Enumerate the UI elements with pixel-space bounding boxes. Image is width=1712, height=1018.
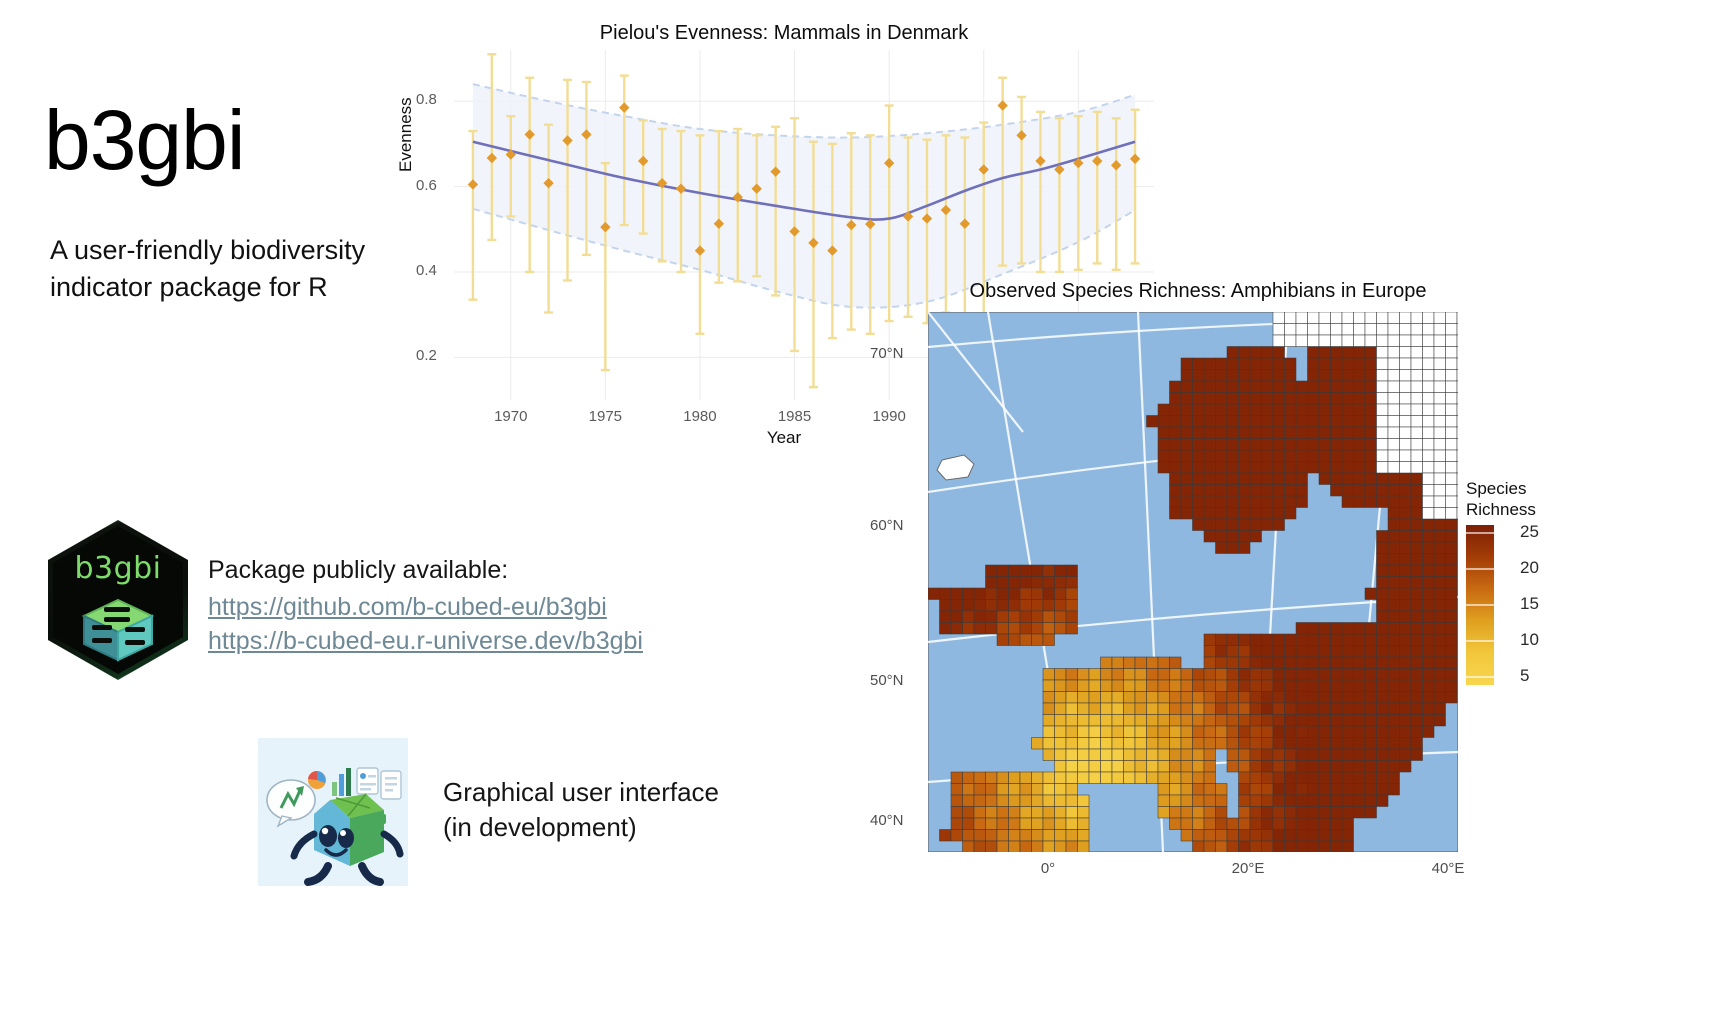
chart-x-tick: 1975: [585, 408, 625, 425]
chart-x-tick: 1990: [869, 408, 909, 425]
gui-caption-line1: Graphical user interface: [443, 775, 719, 810]
chart-x-tick: 1980: [680, 408, 720, 425]
legend-tick: 5: [1520, 666, 1529, 686]
richness-map: Observed Species Richness: Amphibians in…: [918, 280, 1658, 880]
gui-caption-line2: (in development): [443, 810, 719, 845]
legend-title: Species Richness: [1466, 478, 1536, 521]
chart-y-tick: 0.6: [416, 177, 437, 194]
gui-preview-image: [258, 738, 408, 886]
package-heading: Package publicly available:: [208, 556, 643, 585]
legend-tick: 10: [1520, 630, 1539, 650]
map-lat-tick: 70°N: [870, 345, 904, 362]
legend-colorbar: [1466, 525, 1506, 685]
gui-caption: Graphical user interface (in development…: [443, 775, 719, 844]
map-title: Observed Species Richness: Amphibians in…: [918, 280, 1478, 303]
github-link[interactable]: https://github.com/b-cubed-eu/b3gbi: [208, 590, 643, 624]
logo-text: b3gbi: [48, 551, 188, 586]
r-universe-link[interactable]: https://b-cubed-eu.r-universe.dev/b3gbi: [208, 624, 643, 658]
map-plot-area: [928, 312, 1458, 852]
legend-title-line2: Richness: [1466, 499, 1536, 520]
chart-x-tick: 1985: [775, 408, 815, 425]
legend-tick: 15: [1520, 594, 1539, 614]
chart-title: Pielou's Evenness: Mammals in Denmark: [404, 22, 1164, 45]
legend-tick: 25: [1520, 522, 1539, 542]
chart-y-axis-label: Evenness: [396, 97, 416, 172]
chart-x-tick: 1970: [491, 408, 531, 425]
chart-y-tick: 0.8: [416, 91, 437, 108]
map-lon-tick: 0°: [1026, 860, 1070, 877]
map-lat-tick: 50°N: [870, 672, 904, 689]
page-title: b3gbi: [44, 98, 245, 182]
map-lat-tick: 40°N: [870, 812, 904, 829]
legend-tick: 20: [1520, 558, 1539, 578]
chart-y-tick: 0.4: [416, 262, 437, 279]
page-subtitle: A user-friendly biodiversity indicator p…: [50, 232, 380, 307]
chart-y-tick: 0.2: [416, 347, 437, 364]
map-lat-tick: 60°N: [870, 517, 904, 534]
cube-icon: [78, 598, 158, 664]
map-lon-tick: 20°E: [1226, 860, 1270, 877]
map-lon-tick: 40°E: [1426, 860, 1470, 877]
b3gbi-logo: b3gbi: [48, 520, 188, 680]
package-links-block: Package publicly available: https://gith…: [208, 556, 643, 658]
legend-title-line1: Species: [1466, 478, 1536, 499]
slide-root: b3gbi A user-friendly biodiversity indic…: [0, 0, 1712, 1018]
